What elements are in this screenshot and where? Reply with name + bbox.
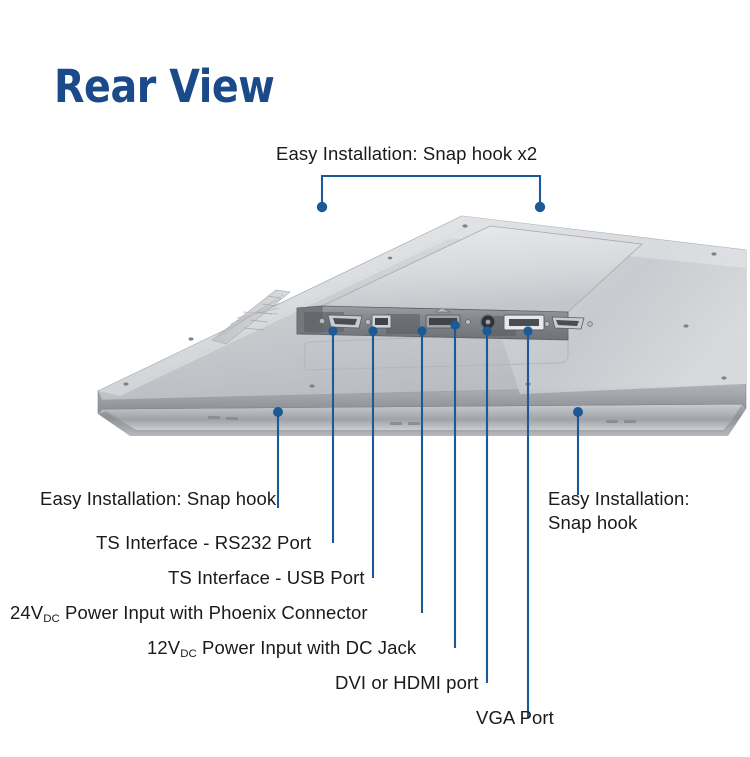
label-snap-hook-x2: Easy Installation: Snap hook x2: [276, 142, 537, 166]
label-phoenix: 24VDC Power Input with Phoenix Connector: [10, 601, 368, 625]
label-dvi: DVI or HDMI port: [335, 671, 478, 695]
label-phoenix-voltage: 24V: [10, 602, 43, 623]
label-snap-hook-right-line1: Easy Installation:: [548, 487, 690, 511]
label-dc-jack-voltage: 12V: [147, 637, 180, 658]
label-dc-jack-subscript: DC: [180, 648, 197, 660]
usb-connector: [372, 315, 391, 328]
label-snap-hook-left: Easy Installation: Snap hook: [40, 487, 276, 511]
label-rs232: TS Interface - RS232 Port: [96, 531, 311, 555]
page-title: Rear View: [54, 64, 274, 109]
label-phoenix-subscript: DC: [43, 613, 60, 625]
rear-view-diagram: Rear View: [0, 0, 750, 757]
dc-jack-connector: [481, 315, 495, 329]
label-usb: TS Interface - USB Port: [168, 566, 365, 590]
monitor-illustration: [90, 198, 750, 448]
label-phoenix-rest: Power Input with Phoenix Connector: [60, 602, 368, 623]
dvi-connector: [504, 315, 544, 330]
label-snap-hook-right-line2: Snap hook: [548, 511, 690, 535]
label-dc-jack-rest: Power Input with DC Jack: [197, 637, 416, 658]
label-vga: VGA Port: [476, 706, 554, 730]
label-snap-hook-right: Easy Installation: Snap hook: [548, 487, 690, 534]
vga-connector: [552, 317, 584, 329]
rs232-connector: [328, 315, 362, 328]
label-dc-jack: 12VDC Power Input with DC Jack: [147, 636, 416, 660]
